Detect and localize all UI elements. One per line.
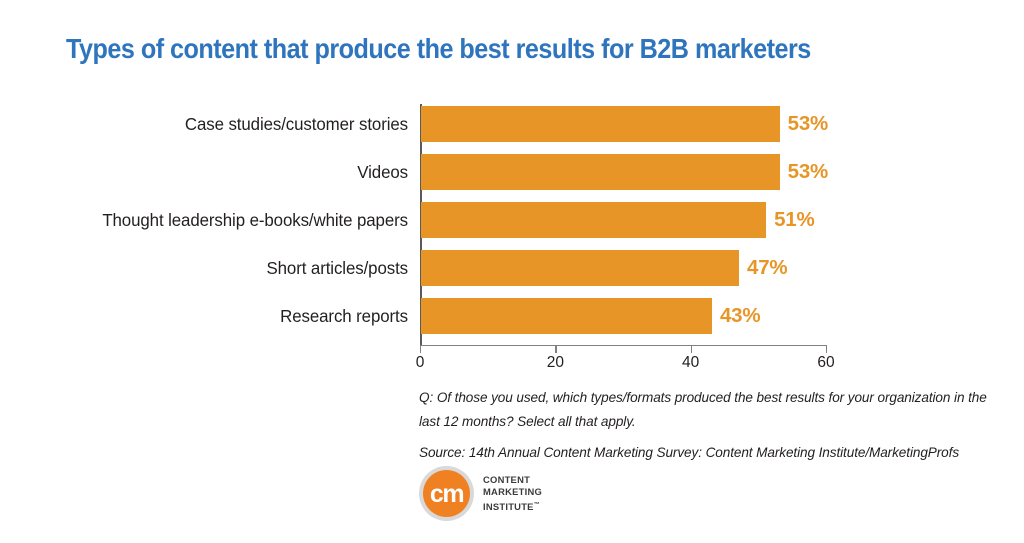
bar-value-label: 53% — [788, 112, 828, 136]
cmi-wordmark-line-1: CONTENT — [483, 474, 542, 486]
x-axis-tick — [691, 345, 692, 353]
cmi-wordmark-line-2: MARKETING — [483, 486, 542, 498]
bar-value-label: 53% — [788, 160, 828, 184]
x-axis-tick — [826, 345, 827, 353]
source-line: Source: 14th Annual Content Marketing Su… — [419, 441, 1019, 465]
bar-value-label: 51% — [774, 208, 814, 232]
content-marketing-institute-logo: cm CONTENT MARKETING INSTITUTE™ — [419, 466, 542, 521]
category-label: Short articles/posts — [12, 258, 408, 279]
x-axis-tick-label: 40 — [682, 354, 699, 372]
bar-row: Videos 53% — [0, 148, 1024, 196]
bar — [421, 298, 712, 334]
cmi-circle-icon: cm — [419, 466, 474, 521]
x-axis-tick-label: 60 — [817, 354, 834, 372]
x-axis-tick-label: 20 — [547, 354, 564, 372]
question-line-2: last 12 months? Select all that apply. — [419, 410, 1019, 434]
bar — [421, 202, 766, 238]
bar — [421, 106, 780, 142]
cmi-wordmark: CONTENT MARKETING INSTITUTE™ — [483, 474, 542, 513]
bar-rows: Case studies/customer stories 53% Videos… — [0, 100, 1024, 340]
trademark-symbol: ™ — [534, 502, 540, 508]
bar-value-label: 43% — [720, 304, 760, 328]
x-axis-tick-label: 0 — [416, 354, 425, 372]
chart-footnotes: Q: Of those you used, which types/format… — [419, 386, 1019, 465]
category-label: Videos — [12, 162, 408, 183]
bar-value-label: 47% — [747, 256, 787, 280]
bar-row: Thought leadership e-books/white papers … — [0, 196, 1024, 244]
bar-group: 51% — [421, 202, 815, 238]
category-label: Thought leadership e-books/white papers — [12, 210, 408, 231]
bar-group: 43% — [421, 298, 760, 334]
cmi-wordmark-institute: INSTITUTE — [483, 501, 534, 512]
bar-group: 53% — [421, 106, 828, 142]
page-title: Types of content that produce the best r… — [66, 33, 811, 65]
question-line-1: Q: Of those you used, which types/format… — [419, 386, 1019, 410]
category-label: Case studies/customer stories — [12, 114, 408, 135]
bar-row: Short articles/posts 47% — [0, 244, 1024, 292]
x-axis-tick — [420, 345, 421, 353]
bar — [421, 154, 780, 190]
x-axis: 0204060 — [0, 345, 1024, 379]
bar-group: 47% — [421, 250, 787, 286]
category-label: Research reports — [12, 306, 408, 327]
bar-row: Case studies/customer stories 53% — [0, 100, 1024, 148]
bar-row: Research reports 43% — [0, 292, 1024, 340]
chart-plot-area: Case studies/customer stories 53% Videos… — [0, 100, 1024, 365]
cmi-wordmark-line-3: INSTITUTE™ — [483, 499, 542, 514]
bar-group: 53% — [421, 154, 828, 190]
x-axis-tick — [555, 345, 556, 353]
cmi-monogram: cm — [430, 482, 463, 507]
bar — [421, 250, 739, 286]
